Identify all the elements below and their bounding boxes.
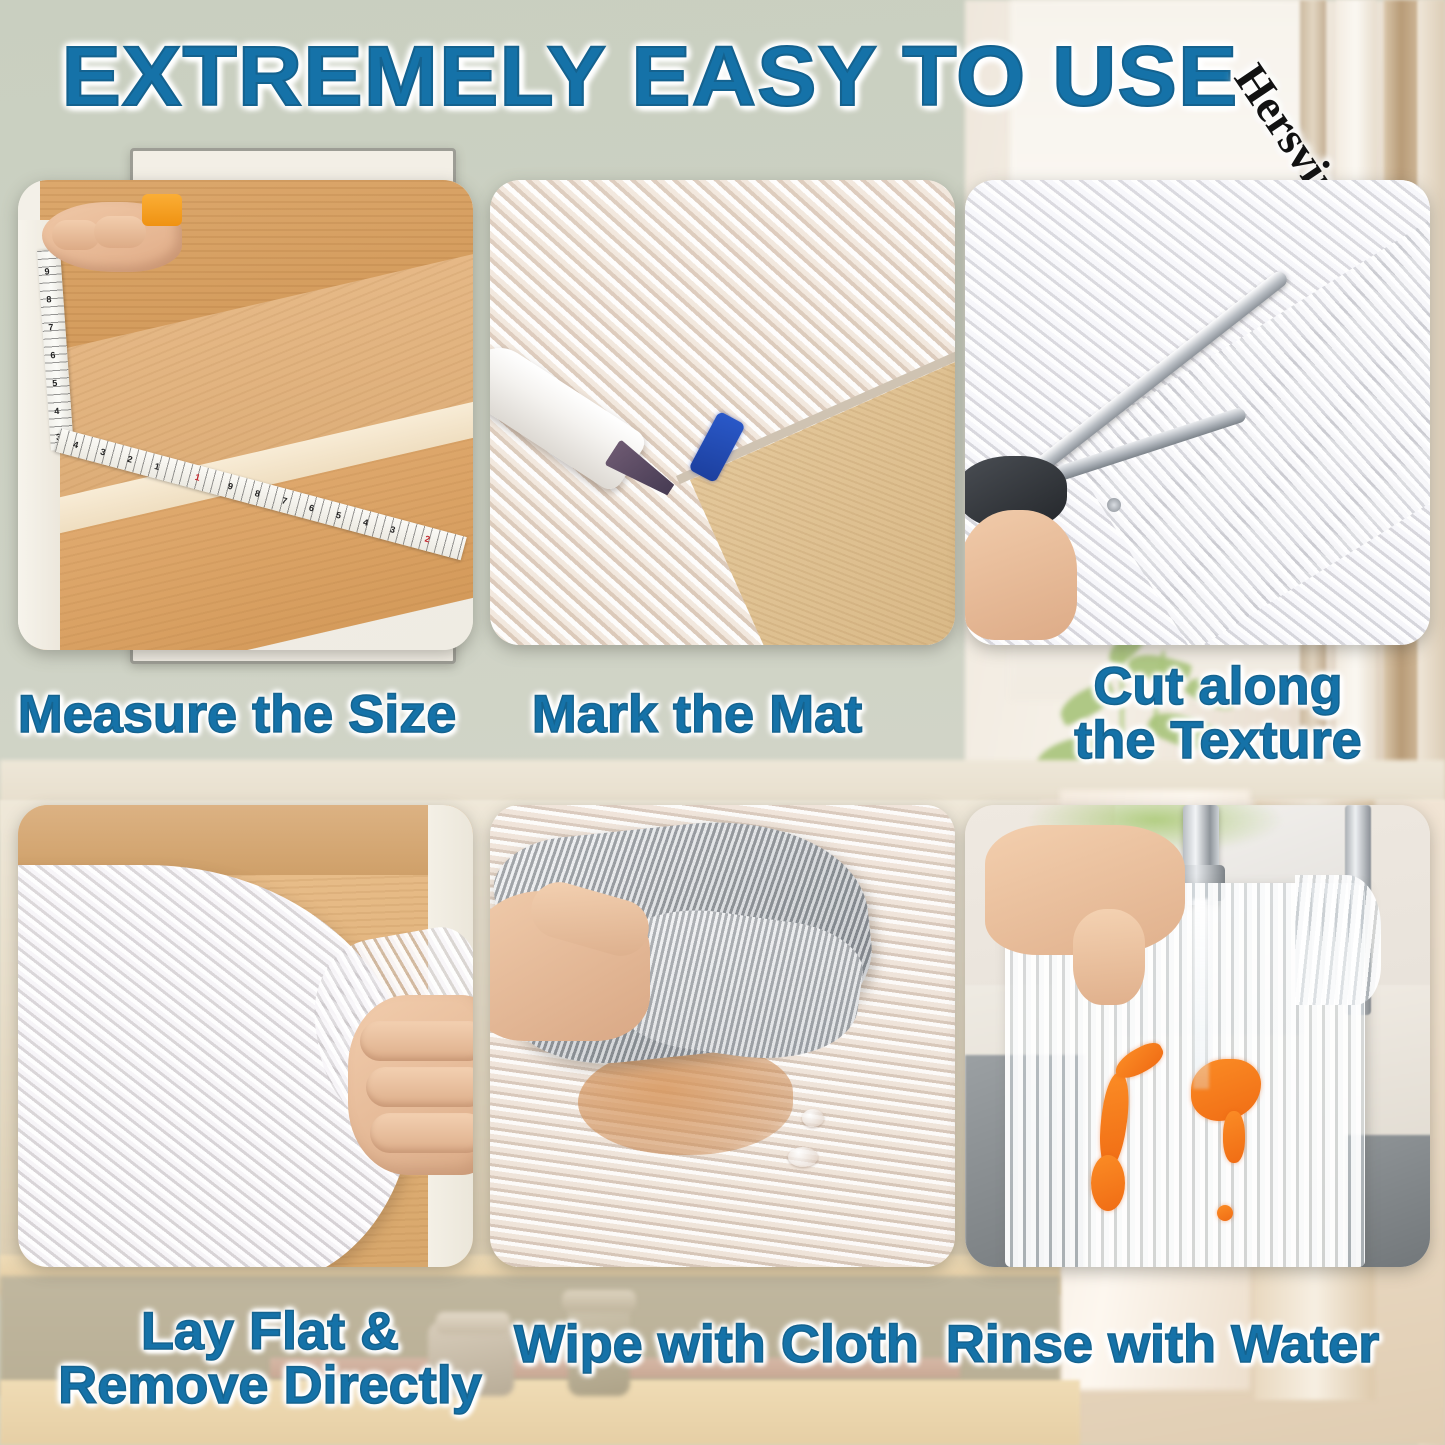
step-6-caption: Rinse with Water: [946, 1318, 1380, 1372]
step-6-photo[interactable]: [965, 805, 1430, 1267]
water-droplet-icon: [788, 1147, 818, 1167]
step-1-caption: Measure the Size: [18, 688, 457, 742]
orange-stain-icon: [1217, 1205, 1233, 1221]
scissors-pivot-icon: [1107, 498, 1121, 512]
page-title: EXTREMELY EASY TO USE: [0, 34, 1339, 118]
hand-icon: [366, 1067, 473, 1107]
tape-clip-icon: [142, 194, 182, 226]
orange-stain-icon: [1110, 1038, 1167, 1084]
ribbed-mat-curled-edge: [1295, 875, 1381, 1005]
step-4-caption: Lay Flat & Remove Directly: [56, 1305, 484, 1413]
hand-icon: [94, 216, 146, 248]
step-2-photo[interactable]: [490, 180, 955, 645]
brand-logo: Hersvin: [1268, 18, 1445, 168]
infographic-canvas: EXTREMELY EASY TO USE Hersvin 9 8 7 6 5 …: [0, 0, 1445, 1445]
hand-icon: [1073, 909, 1145, 1005]
orange-stain-icon: [1091, 1155, 1125, 1211]
step-3-caption: Cut along the Texture: [1055, 660, 1381, 768]
orange-stain-icon: [1223, 1111, 1245, 1163]
hand-icon: [52, 220, 100, 250]
water-stream-icon: [1193, 899, 1209, 1089]
orange-stain-icon: [1094, 1072, 1133, 1171]
water-droplet-icon: [802, 1109, 824, 1127]
step-5-caption: Wipe with Cloth: [514, 1318, 919, 1372]
hand-icon: [965, 510, 1077, 640]
hand-icon: [370, 1113, 473, 1153]
step-1-photo[interactable]: 9 8 7 6 5 4 3 4 3 2 1 1 9 8 7 6 5 4 3 2: [18, 180, 473, 650]
step-2-caption: Mark the Mat: [532, 688, 862, 742]
step-3-photo[interactable]: [965, 180, 1430, 645]
step-5-photo[interactable]: [490, 805, 955, 1267]
hand-icon: [360, 1021, 473, 1061]
step-4-photo[interactable]: [18, 805, 473, 1267]
background-jar-icon: [562, 1290, 636, 1312]
